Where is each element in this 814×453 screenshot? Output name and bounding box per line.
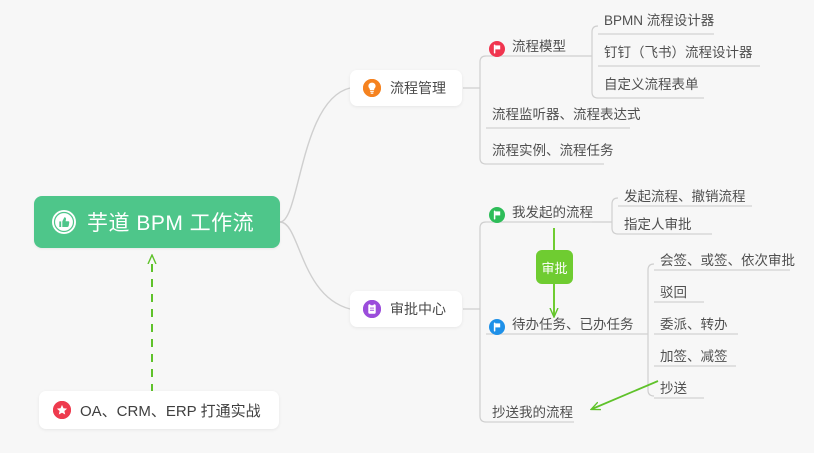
node-process-model[interactable]: 流程模型 bbox=[486, 38, 572, 59]
leaf-label: 抄送 bbox=[660, 381, 687, 396]
mindmap-canvas: 芋道 BPM 工作流 流程管理 流程模型 BPMN 流程设计器 钉钉（飞书 bbox=[0, 0, 814, 453]
leaf-countersign[interactable]: 会签、或签、依次审批 bbox=[654, 252, 801, 273]
star-icon bbox=[53, 401, 71, 419]
node-approval-center[interactable]: 审批中心 bbox=[350, 291, 462, 327]
leaf-label: 抄送我的流程 bbox=[492, 405, 573, 420]
leaf-delegate-transfer[interactable]: 委派、转办 bbox=[654, 316, 734, 337]
approval-flow-label: 审批 bbox=[536, 250, 573, 284]
leaf-label: 流程监听器、流程表达式 bbox=[492, 107, 641, 122]
node-label: 我发起的流程 bbox=[512, 205, 593, 220]
node-integration-note[interactable]: OA、CRM、ERP 打通实战 bbox=[39, 391, 279, 429]
leaf-custom-form[interactable]: 自定义流程表单 bbox=[598, 76, 705, 97]
approval-flow-text: 审批 bbox=[541, 258, 567, 277]
leaf-label: 流程实例、流程任务 bbox=[492, 143, 614, 158]
node-process-management[interactable]: 流程管理 bbox=[350, 70, 462, 106]
node-label: 审批中心 bbox=[390, 299, 446, 319]
leaf-dingtalk-designer[interactable]: 钉钉（飞书）流程设计器 bbox=[598, 44, 759, 65]
leaf-label: 自定义流程表单 bbox=[604, 77, 699, 92]
thumbs-up-icon bbox=[52, 210, 76, 234]
flag-red-icon bbox=[488, 40, 506, 58]
clipboard-icon bbox=[363, 300, 381, 318]
leaf-cc-to-me[interactable]: 抄送我的流程 bbox=[486, 404, 579, 425]
node-label: 待办任务、已办任务 bbox=[512, 317, 634, 332]
leaf-process-instance[interactable]: 流程实例、流程任务 bbox=[486, 142, 620, 163]
leaf-label: 钉钉（飞书）流程设计器 bbox=[604, 45, 753, 60]
leaf-label: 委派、转办 bbox=[660, 317, 728, 332]
leaf-label: 加签、减签 bbox=[660, 349, 728, 364]
node-label: 流程管理 bbox=[390, 78, 446, 98]
root-node[interactable]: 芋道 BPM 工作流 bbox=[34, 196, 280, 248]
node-todo-done-tasks[interactable]: 待办任务、已办任务 bbox=[486, 316, 640, 337]
leaf-reject[interactable]: 驳回 bbox=[654, 284, 693, 305]
leaf-label: 会签、或签、依次审批 bbox=[660, 253, 795, 268]
leaf-process-listener[interactable]: 流程监听器、流程表达式 bbox=[486, 106, 647, 127]
leaf-label: 指定人审批 bbox=[624, 217, 692, 232]
node-label: 流程模型 bbox=[512, 39, 566, 54]
root-label: 芋道 BPM 工作流 bbox=[87, 207, 254, 237]
leaf-label: 发起流程、撤销流程 bbox=[624, 189, 746, 204]
leaf-label: 驳回 bbox=[660, 285, 687, 300]
leaf-bpmn-designer[interactable]: BPMN 流程设计器 bbox=[598, 12, 720, 33]
leaf-start-cancel-process[interactable]: 发起流程、撤销流程 bbox=[618, 188, 752, 209]
leaf-cc[interactable]: 抄送 bbox=[654, 380, 693, 401]
leaf-assignee-approval[interactable]: 指定人审批 bbox=[618, 216, 698, 237]
node-label: OA、CRM、ERP 打通实战 bbox=[80, 400, 261, 421]
flag-green-icon bbox=[488, 206, 506, 224]
node-my-initiated-process[interactable]: 我发起的流程 bbox=[486, 204, 599, 225]
leaf-label: BPMN 流程设计器 bbox=[604, 13, 714, 28]
leaf-add-remove-sign[interactable]: 加签、减签 bbox=[654, 348, 734, 369]
flag-blue-icon bbox=[488, 318, 506, 336]
lightbulb-icon bbox=[363, 79, 381, 97]
